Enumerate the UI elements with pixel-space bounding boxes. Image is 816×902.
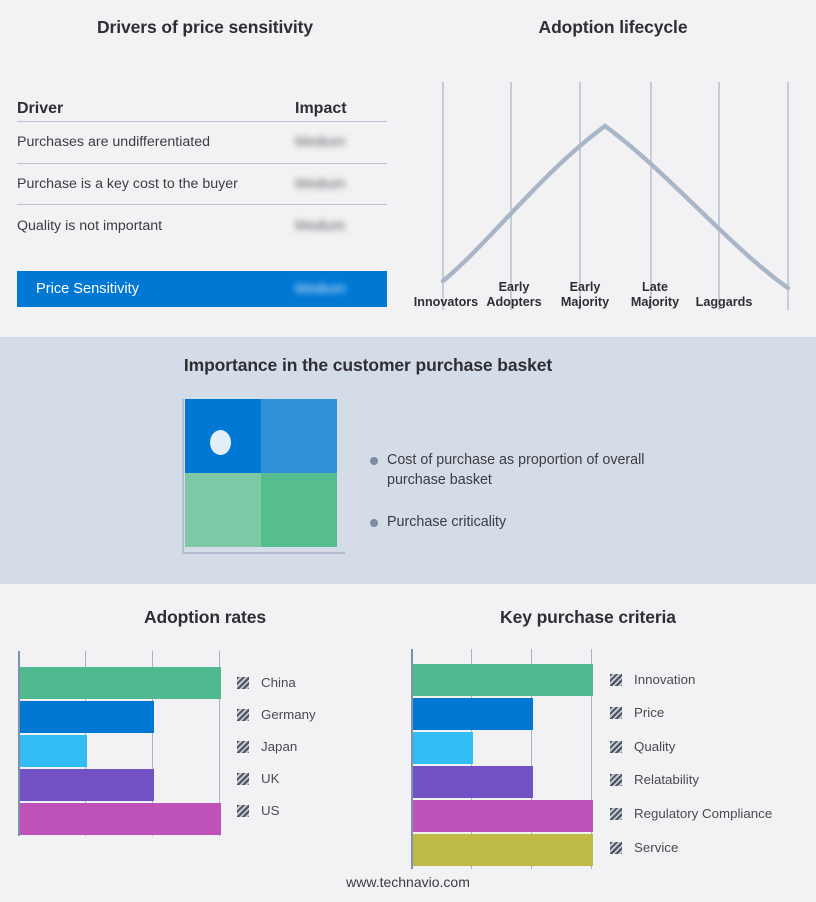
- legend-item-us: US: [237, 803, 279, 818]
- legend-item-china: China: [237, 675, 296, 690]
- legend-item-price: Price: [610, 705, 664, 720]
- legend-item-uk: UK: [237, 771, 279, 786]
- adoption-rates-title: Adoption rates: [0, 607, 410, 628]
- hatch-swatch-icon: [610, 842, 622, 854]
- quadrant-bottom-right: [261, 473, 337, 547]
- bar-china: [20, 667, 221, 699]
- hatch-swatch-icon: [610, 707, 622, 719]
- legend-item-germany: Germany: [237, 707, 316, 722]
- bar-japan: [20, 735, 87, 767]
- adoption-rates-plot: [18, 651, 222, 836]
- legend-item-japan: Japan: [237, 739, 297, 754]
- bar-regulatory-compliance: [413, 800, 593, 832]
- table-row: Purchases are undifferentiated Medium: [17, 122, 387, 164]
- impact-value-cell: Medium: [295, 134, 387, 150]
- legend-label: US: [261, 803, 279, 818]
- quadrant-top-right: [261, 399, 337, 473]
- legend-label: Regulatory Compliance: [634, 806, 772, 821]
- importance-legend: Cost of purchase as proportion of overal…: [370, 450, 670, 554]
- quadrant-top-left: [185, 399, 261, 473]
- quadrant-bottom-left: [185, 473, 261, 547]
- key-purchase-criteria-title: Key purchase criteria: [400, 607, 776, 628]
- impact-value-redacted: Medium: [295, 134, 345, 150]
- hatch-swatch-icon: [237, 677, 249, 689]
- legend-label: Price: [634, 705, 664, 720]
- legend-label: Quality: [634, 739, 675, 754]
- adoption-lifecycle-title: Adoption lifecycle: [410, 17, 816, 38]
- legend-item-relatability: Relatability: [610, 772, 699, 787]
- column-header-driver: Driver: [17, 100, 295, 118]
- criteria-plot: [411, 649, 594, 869]
- legend-label: Japan: [261, 739, 297, 754]
- legend-item-purchase-criticality: Purchase criticality: [370, 512, 670, 532]
- legend-item-cost-of-purchase: Cost of purchase as proportion of overal…: [370, 450, 670, 490]
- lifecycle-stage-innovators: Innovators: [413, 295, 479, 310]
- drivers-panel: Drivers of price sensitivity Driver Impa…: [0, 0, 410, 337]
- column-header-impact: Impact: [295, 100, 387, 118]
- legend-label: Germany: [261, 707, 316, 722]
- adoption-bell-curve: [443, 126, 788, 288]
- quadrant-y-axis: [182, 399, 184, 554]
- adoption-rates-panel: Adoption rates: [0, 584, 410, 902]
- legend-item-innovation: Innovation: [610, 672, 695, 687]
- table-header-row: Driver Impact: [17, 92, 387, 122]
- impact-value-cell: Medium: [295, 176, 387, 192]
- adoption-lifecycle-panel: Adoption lifecycle Innovators Early Adop…: [410, 0, 816, 337]
- legend-item-quality: Quality: [610, 739, 675, 754]
- hatch-swatch-icon: [610, 808, 622, 820]
- impact-value-redacted: Medium: [295, 281, 345, 297]
- infographic-page: Drivers of price sensitivity Driver Impa…: [0, 0, 816, 902]
- legend-label: Relatability: [634, 772, 699, 787]
- legend-label: UK: [261, 771, 279, 786]
- table-row: Purchase is a key cost to the buyer Medi…: [17, 164, 387, 206]
- legend-bullet-icon: [370, 519, 378, 527]
- key-purchase-criteria-panel: Key purchase criteria: [400, 584, 816, 902]
- impact-value-redacted: Medium: [295, 176, 345, 192]
- bar-us: [20, 803, 221, 835]
- hatch-swatch-icon: [237, 805, 249, 817]
- importance-panel: Importance in the customer purchase bask…: [0, 337, 816, 584]
- drivers-table: Driver Impact Purchases are undifferenti…: [17, 92, 387, 247]
- legend-label: Cost of purchase as proportion of overal…: [387, 450, 645, 490]
- hatch-swatch-icon: [610, 774, 622, 786]
- data-point-marker: [210, 430, 231, 455]
- lifecycle-stage-laggards: Laggards: [691, 295, 757, 310]
- lifecycle-stage-late-majority: Late Majority: [621, 280, 689, 310]
- adoption-rates-legend: China Germany Japan UK US: [237, 651, 397, 836]
- driver-label: Quality is not important: [17, 218, 295, 234]
- footer-url: www.technavio.com: [0, 874, 816, 890]
- hatch-swatch-icon: [610, 674, 622, 686]
- price-sensitivity-summary-row: Price Sensitivity Medium: [17, 271, 387, 307]
- bar-price: [413, 698, 533, 730]
- driver-label: Purchase is a key cost to the buyer: [17, 176, 295, 192]
- driver-label: Purchases are undifferentiated: [17, 134, 295, 150]
- bar-relatability: [413, 766, 533, 798]
- legend-item-regulatory-compliance: Regulatory Compliance: [610, 806, 772, 821]
- bar-uk: [20, 769, 154, 801]
- legend-label: Innovation: [634, 672, 695, 687]
- importance-title: Importance in the customer purchase bask…: [0, 355, 736, 376]
- table-row: Quality is not important Medium: [17, 205, 387, 247]
- lifecycle-stage-labels: Innovators Early Adopters Early Majority…: [430, 272, 800, 312]
- legend-bullet-icon: [370, 457, 378, 465]
- legend-label: Purchase criticality: [387, 512, 506, 532]
- hatch-swatch-icon: [610, 741, 622, 753]
- importance-quadrant-chart: [178, 399, 353, 569]
- bar-service: [413, 834, 593, 866]
- price-sensitivity-label: Price Sensitivity: [36, 281, 295, 297]
- criteria-legend: Innovation Price Quality Relatability Re…: [610, 649, 810, 869]
- quadrant-grid: [185, 399, 337, 547]
- lifecycle-stage-early-adopters: Early Adopters: [481, 280, 547, 310]
- quadrant-x-axis: [182, 552, 345, 554]
- legend-label: Service: [634, 840, 678, 855]
- bar-germany: [20, 701, 154, 733]
- bar-innovation: [413, 664, 593, 696]
- impact-value-cell: Medium: [295, 280, 387, 298]
- hatch-swatch-icon: [237, 709, 249, 721]
- legend-label: China: [261, 675, 296, 690]
- bar-quality: [413, 732, 473, 764]
- drivers-title: Drivers of price sensitivity: [0, 17, 410, 38]
- legend-item-service: Service: [610, 840, 678, 855]
- impact-value-redacted: Medium: [295, 218, 345, 234]
- impact-value-cell: Medium: [295, 218, 387, 234]
- hatch-swatch-icon: [237, 773, 249, 785]
- lifecycle-stage-early-majority: Early Majority: [551, 280, 619, 310]
- hatch-swatch-icon: [237, 741, 249, 753]
